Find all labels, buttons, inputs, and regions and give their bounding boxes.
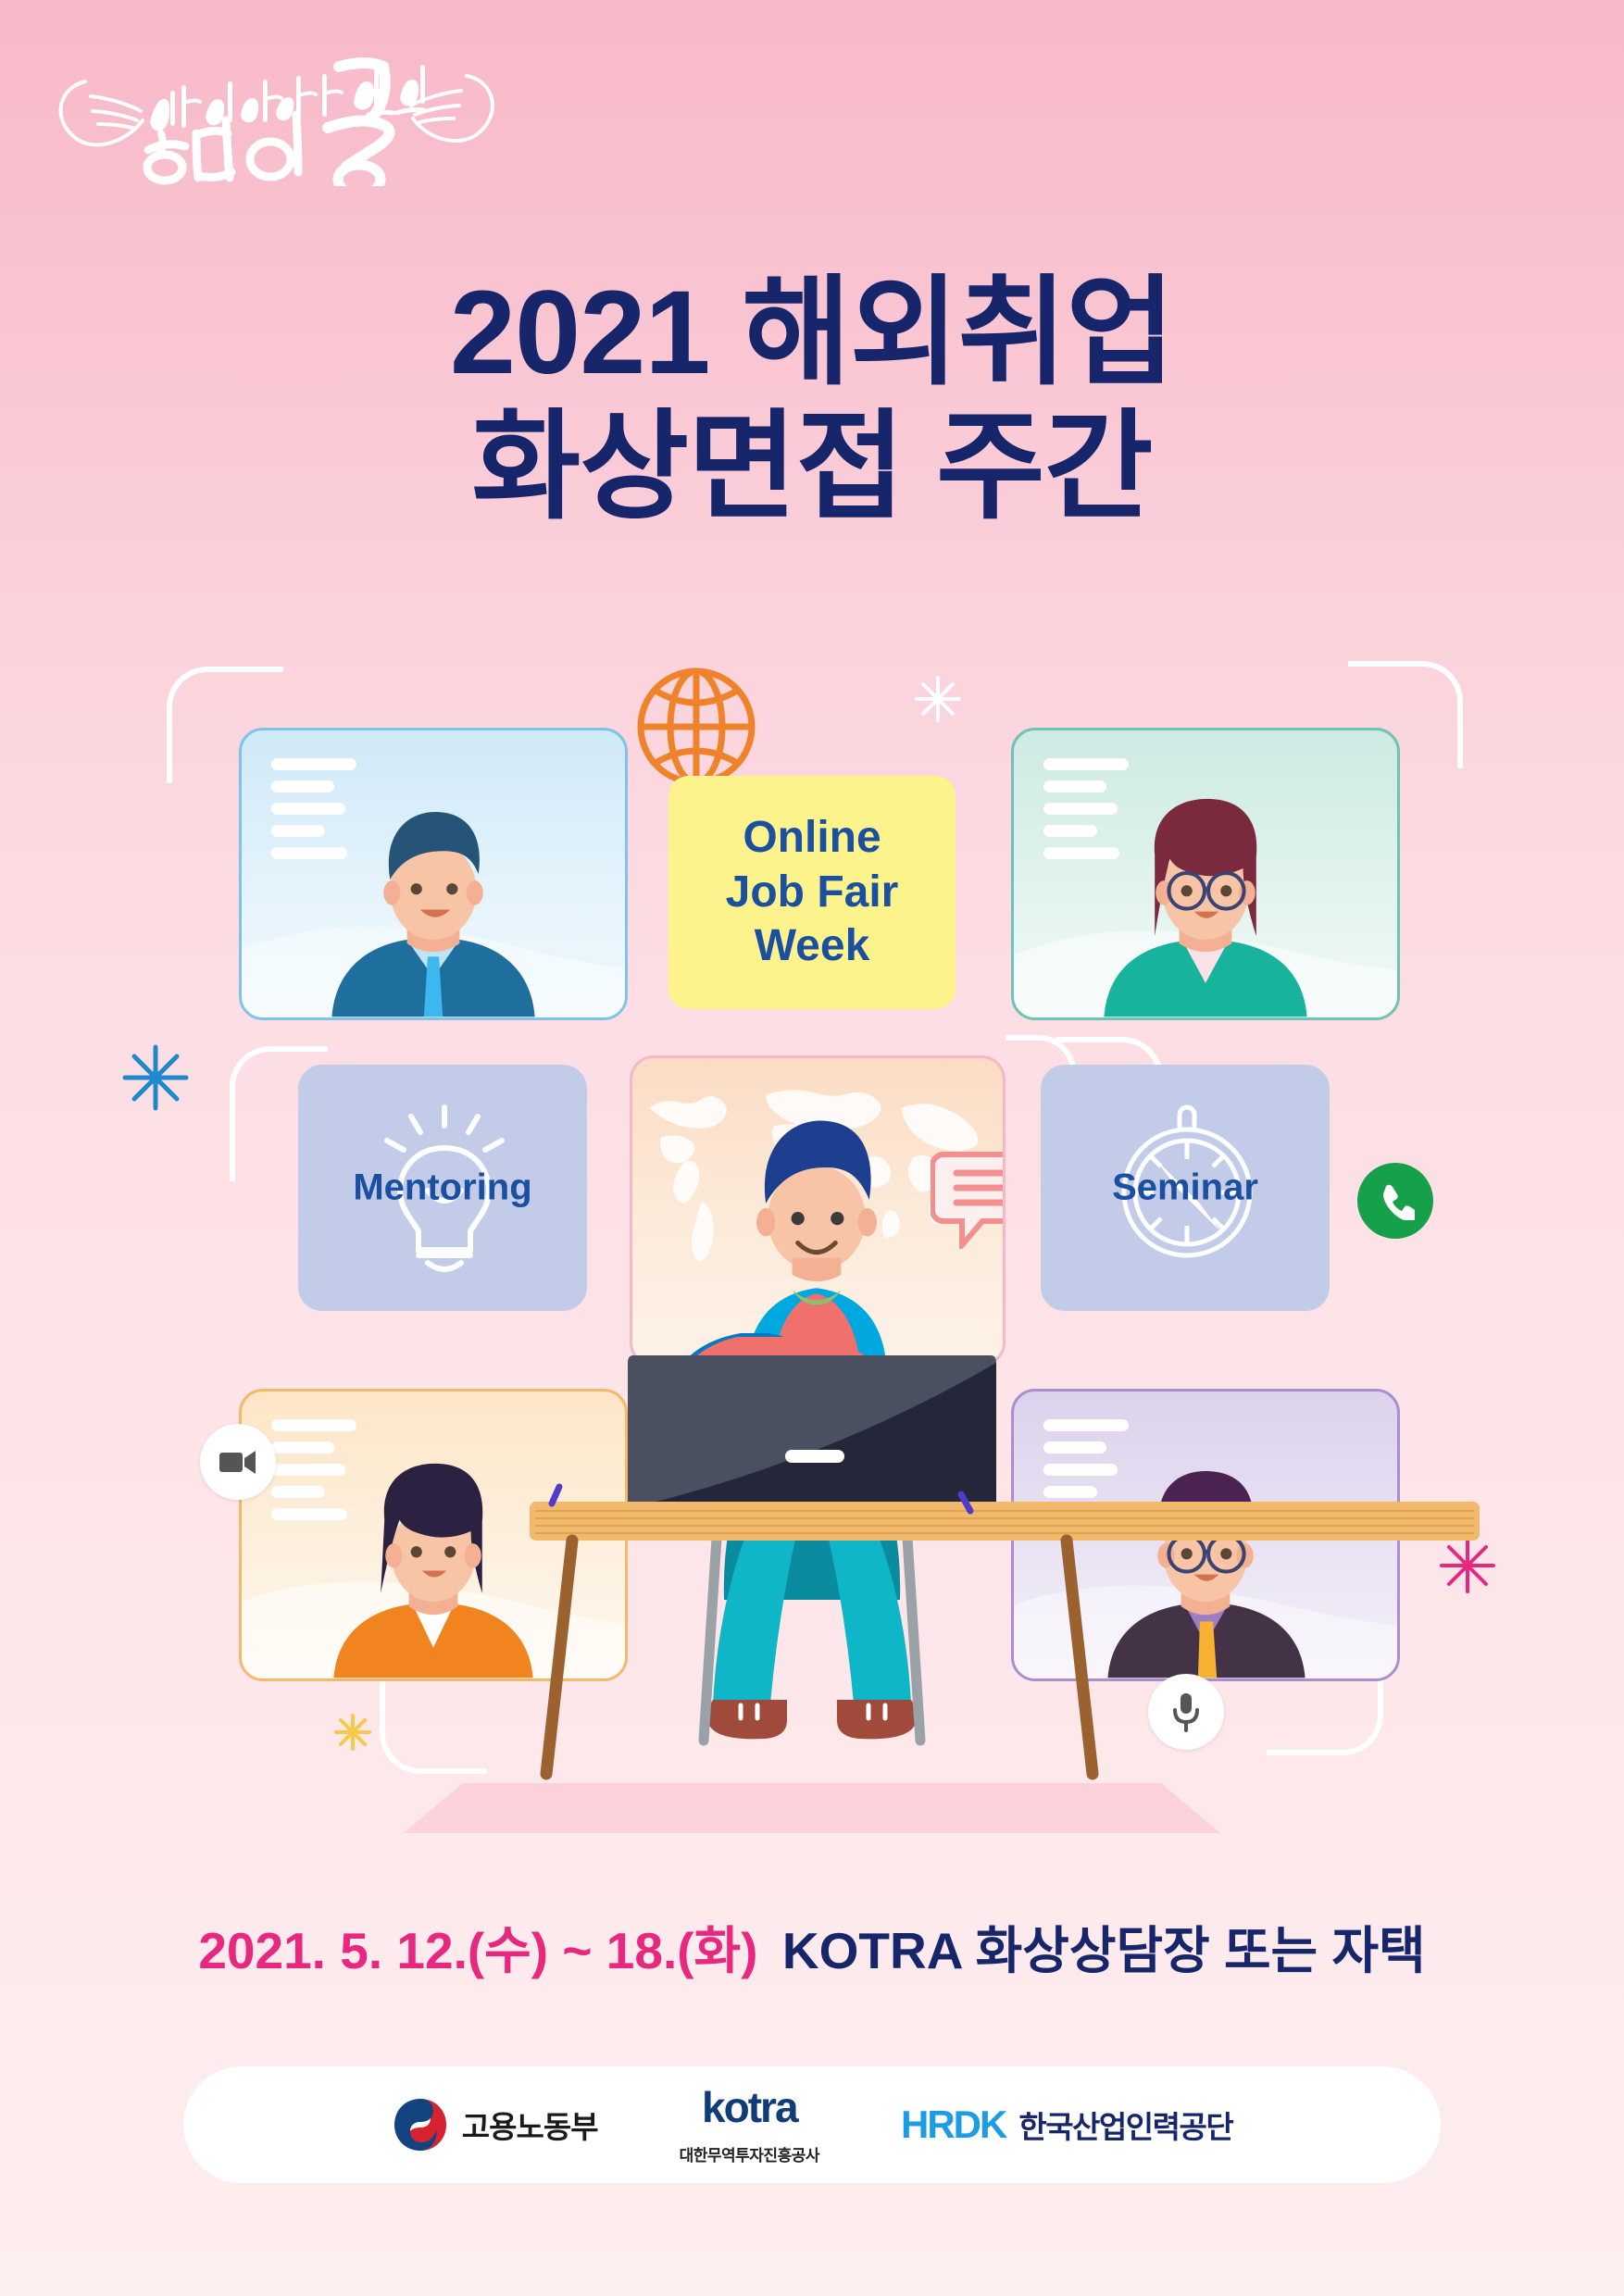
sparkle-icon-white-top: [915, 676, 961, 722]
video-tile-man-blue-suit: [239, 728, 628, 1020]
yellow-line-2: Job Fair: [668, 866, 956, 920]
title-line-1: 2021 해외취업: [0, 267, 1624, 401]
sponsor-hrdk: HRDK 한국산업인력공단: [901, 2103, 1232, 2147]
video-tile-man-glasses-purple: [1011, 1389, 1400, 1681]
sponsor-moel-label: 고용노동부: [462, 2103, 598, 2147]
event-date: 2021. 5. 12.(수) ~ 18.(화): [198, 1922, 757, 1979]
sparkle-icon-yellow: [333, 1713, 372, 1752]
sponsor-hrdk-label: HRDK: [901, 2103, 1006, 2147]
yellow-line-1: Online: [668, 811, 956, 866]
video-tile-woman-glasses-teal: [1011, 728, 1400, 1020]
sparkle-icon-pink: [1439, 1537, 1496, 1594]
brand-logo: [33, 24, 515, 186]
phone-badge: [1357, 1163, 1433, 1239]
seminar-label: Seminar: [1041, 1167, 1330, 1209]
sponsor-kotra-sublabel: 대한무역투자진흥공사: [680, 2148, 819, 2164]
title-line-2: 화상면접 주간: [0, 401, 1624, 535]
video-tile-text-lines-br: [1043, 1419, 1129, 1530]
event-dateline: 2021. 5. 12.(수) ~ 18.(화) KOTRA 화상상담장 또는 …: [0, 1909, 1624, 1983]
video-camera-badge: [200, 1424, 276, 1500]
illustration-stage: Online Job Fair Week: [0, 648, 1624, 1833]
poster-canvas: 2021 해외취업 화상면접 주간: [0, 0, 1624, 2296]
yellow-line-3: Week: [668, 919, 956, 974]
mentoring-label: Mentoring: [298, 1167, 587, 1209]
world-map-card: [630, 1055, 1006, 1366]
sparkle-icon-blue: [122, 1044, 189, 1111]
sponsor-moel: 고용노동부: [392, 2096, 598, 2153]
microphone-icon: [1170, 1691, 1202, 1732]
brand-logo-artwork: [33, 24, 515, 186]
video-camera-icon: [219, 1448, 257, 1476]
video-tile-woman-orange-blazer: [239, 1389, 628, 1681]
online-job-fair-week-card: Online Job Fair Week: [668, 776, 956, 1009]
sponsor-hrdk-sublabel: 한국산업인력공단: [1018, 2103, 1232, 2147]
phone-icon: [1376, 1181, 1415, 1220]
video-tile-text-lines-tl: [271, 758, 356, 869]
wings-icon: [61, 76, 493, 144]
video-tile-text-lines-tr: [1043, 758, 1129, 869]
mentoring-card: Mentoring: [298, 1065, 587, 1311]
chat-bubble-icon: [931, 1147, 1006, 1249]
sponsor-kotra-label: kotra: [702, 2086, 796, 2128]
yellow-card-text: Online Job Fair Week: [668, 811, 956, 974]
poster-title: 2021 해외취업 화상면접 주간: [0, 267, 1624, 534]
event-venue: KOTRA 화상상담장 또는 자택: [782, 1922, 1426, 1979]
globe-icon: [635, 665, 757, 789]
taegeuk-icon: [392, 2096, 449, 2153]
sponsor-kotra: kotra 대한무역투자진흥공사: [680, 2086, 819, 2164]
microphone-badge: [1148, 1674, 1224, 1750]
seminar-card: Seminar: [1041, 1065, 1330, 1311]
sponsor-logo-bar: 고용노동부 kotra 대한무역투자진흥공사 HRDK 한국산업인력공단: [183, 2066, 1441, 2183]
video-tile-text-lines-bl: [271, 1419, 356, 1530]
